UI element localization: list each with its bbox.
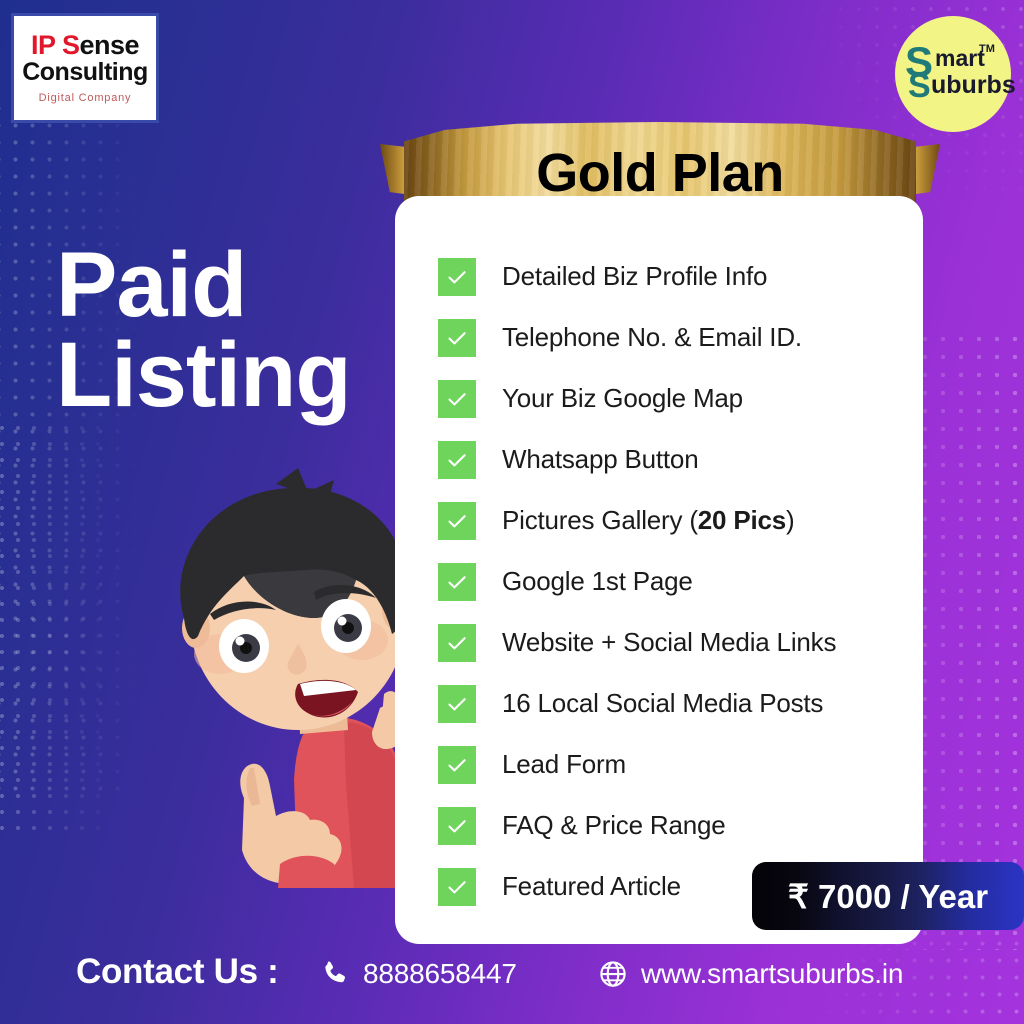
phone-icon [320,959,350,989]
feature-label: FAQ & Price Range [502,810,725,841]
page-title: Paid Listing [56,240,396,420]
ipsense-logo-ense: ense [80,30,140,60]
feature-label: Featured Article [502,871,681,902]
check-icon [445,387,469,411]
website-url: www.smartsuburbs.in [641,958,903,990]
pricing-poster: IP Sense Consulting Digital Company S ma… [0,0,1024,1024]
halftone-dots-left-lower [0,420,114,840]
footer-contact-bar: Contact Us : 8888658447 www.smartsuburbs… [0,938,1024,1024]
check-icon [445,692,469,716]
smartsuburbs-logo: S mart TM S uburbs [895,16,1011,132]
feature-checkbox[interactable] [438,685,476,723]
feature-checkbox[interactable] [438,258,476,296]
globe-icon [598,959,628,989]
ipsense-logo-ip: IP [31,30,62,60]
smartsuburbs-logo-mart: mart [935,47,985,70]
feature-checkbox[interactable] [438,441,476,479]
check-icon [445,509,469,533]
feature-label: Detailed Biz Profile Info [502,261,767,292]
halftone-dots-left [0,100,140,800]
feature-checkbox[interactable] [438,624,476,662]
feature-checkbox[interactable] [438,807,476,845]
check-icon [445,448,469,472]
feature-checkbox[interactable] [438,868,476,906]
feature-checkbox[interactable] [438,563,476,601]
smartsuburbs-logo-tm: TM [979,43,995,55]
feature-label: Google 1st Page [502,566,693,597]
feature-row: Pictures Gallery (20 Pics) [438,490,908,551]
ipsense-logo: IP Sense Consulting Digital Company [11,13,159,123]
feature-checkbox[interactable] [438,380,476,418]
feature-row: Your Biz Google Map [438,368,908,429]
feature-row: Google 1st Page [438,551,908,612]
smartsuburbs-logo-s2: S [908,69,931,103]
feature-label: Lead Form [502,749,626,780]
check-icon [445,570,469,594]
feature-label: Your Biz Google Map [502,383,743,414]
feature-label-emphasis: 20 Pics [698,505,786,535]
page-title-line2: Listing [56,330,396,420]
check-icon [445,326,469,350]
check-icon [445,265,469,289]
ipsense-logo-line1: IP Sense [31,32,139,60]
feature-checkbox[interactable] [438,319,476,357]
feature-label: Website + Social Media Links [502,627,836,658]
check-icon [445,814,469,838]
ipsense-logo-line2: Consulting [22,59,148,85]
page-title-line1: Paid [56,240,396,330]
phone-number: 8888658447 [363,958,517,990]
feature-row: Telephone No. & Email ID. [438,307,908,368]
feature-label: Whatsapp Button [502,444,698,475]
smartsuburbs-logo-inner: S mart TM S uburbs [901,39,1005,109]
check-icon [445,753,469,777]
feature-label: Telephone No. & Email ID. [502,322,802,353]
feature-row: FAQ & Price Range [438,795,908,856]
feature-label: 16 Local Social Media Posts [502,688,823,719]
feature-row: Detailed Biz Profile Info [438,246,908,307]
phone-contact-group[interactable]: 8888658447 [320,958,517,990]
feature-checkbox[interactable] [438,502,476,540]
price-badge[interactable]: ₹ 7000 / Year [752,862,1024,930]
feature-row: Website + Social Media Links [438,612,908,673]
feature-row: Whatsapp Button [438,429,908,490]
feature-checkbox[interactable] [438,746,476,784]
check-icon [445,875,469,899]
feature-row: Lead Form [438,734,908,795]
feature-list: Detailed Biz Profile InfoTelephone No. &… [438,246,908,917]
website-contact-group[interactable]: www.smartsuburbs.in [598,958,903,990]
plan-card: Detailed Biz Profile InfoTelephone No. &… [395,196,923,944]
plan-title: Gold Plan [536,142,784,204]
contact-us-label: Contact Us : [76,952,279,992]
feature-row: 16 Local Social Media Posts [438,673,908,734]
mascot-body [180,468,410,888]
smartsuburbs-logo-uburbs: uburbs [931,73,1016,98]
ipsense-logo-tagline: Digital Company [39,92,132,104]
ipsense-logo-s: S [62,30,80,60]
check-icon [445,631,469,655]
feature-label: Pictures Gallery (20 Pics) [502,505,794,536]
mascot-boy-illustration [148,468,426,888]
